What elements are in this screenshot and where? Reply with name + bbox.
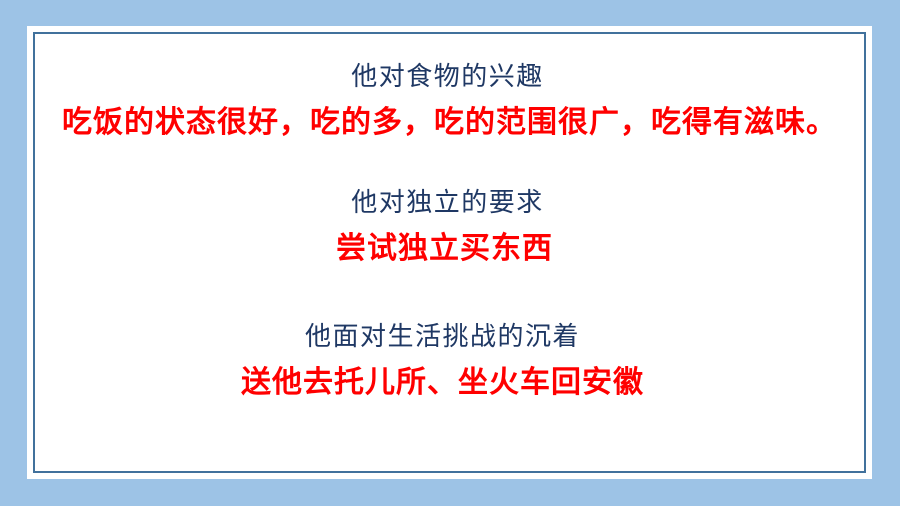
section-independence-body: 尝试独立买东西 <box>40 231 849 266</box>
section-composure-heading: 他面对生活挑战的沉着 <box>38 322 847 353</box>
section-composure-body: 送他去托儿所、坐火车回安徽 <box>38 365 847 400</box>
section-independence: 他对独立的要求 尝试独立买东西 <box>45 188 854 266</box>
slide-frame-white-gap: 他对食物的兴趣 吃饭的状态很好，吃的多，吃的范围很广，吃得有滋味。 他对独立的要… <box>27 26 872 479</box>
slide: 他对食物的兴趣 吃饭的状态很好，吃的多，吃的范围很广，吃得有滋味。 他对独立的要… <box>0 0 900 506</box>
slide-frame-rule: 他对食物的兴趣 吃饭的状态很好，吃的多，吃的范围很广，吃得有滋味。 他对独立的要… <box>33 32 866 473</box>
section-food-interest: 他对食物的兴趣 吃饭的状态很好，吃的多，吃的范围很广，吃得有滋味。 <box>45 62 854 140</box>
section-food-interest-body: 吃饭的状态很好，吃的多，吃的范围很广，吃得有滋味。 <box>45 105 854 140</box>
slide-content: 他对食物的兴趣 吃饭的状态很好，吃的多，吃的范围很广，吃得有滋味。 他对独立的要… <box>35 34 864 471</box>
section-independence-heading: 他对独立的要求 <box>43 188 852 219</box>
section-food-interest-heading: 他对食物的兴趣 <box>43 62 852 93</box>
section-composure: 他面对生活挑战的沉着 送他去托儿所、坐火车回安徽 <box>45 322 854 400</box>
